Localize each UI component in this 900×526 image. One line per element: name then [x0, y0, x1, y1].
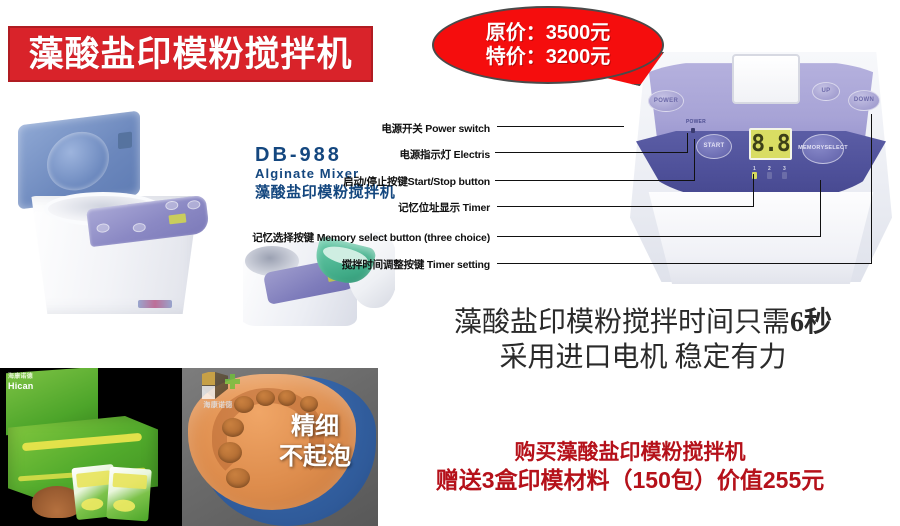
special-price: 特价：3200元 — [486, 45, 611, 69]
annotation-timer-display: 记忆位址显示 Timer — [300, 200, 490, 215]
memory-led-2 — [767, 172, 772, 179]
watermark-text: 海康诺德 — [192, 400, 244, 410]
original-price: 原价：3500元 — [486, 21, 611, 45]
green-cross-icon-bar — [225, 379, 240, 384]
dental-impression-photo: 海康诺德 精细 不起泡 — [182, 368, 378, 526]
slogan-line-1-suffix: 秒 — [804, 307, 832, 338]
machine-brand-logo — [138, 300, 172, 308]
leader-line-timer-setting — [497, 263, 871, 264]
panel-button-up — [187, 200, 201, 211]
memory-select-button[interactable]: MEMORY SELECT — [802, 134, 844, 164]
sachet-label-2 — [112, 473, 147, 489]
memory-button-line2: SELECT — [824, 146, 848, 152]
sachet-seal-1 — [81, 497, 104, 511]
panel-button-power — [96, 223, 110, 234]
leader-line-power-indicator-vert — [687, 133, 688, 153]
leader-line-timer-display — [497, 206, 753, 207]
annotation-power-switch: 电源开关 Power switch — [300, 121, 490, 136]
slogan-line-1: 藻酸盐印模粉搅拌时间只需6秒 — [388, 306, 898, 340]
panel-button-down — [165, 200, 179, 211]
machine-lid-hinge — [118, 131, 132, 149]
impression-tooth — [222, 418, 244, 437]
memory-button-line1: MEMORY — [798, 146, 824, 152]
price-bubble: 原价：3500元 特价：3200元 — [432, 6, 664, 84]
impression-tooth — [218, 442, 242, 463]
promo-line-1: 购买藻酸盐印模粉搅拌机 — [360, 440, 900, 466]
shield-quadrant-2 — [202, 386, 215, 399]
promo-block: 购买藻酸盐印模粉搅拌机 赠送3盒印模材料（150包）价值255元 — [360, 440, 900, 495]
watermark-logo: 海康诺德 — [192, 372, 242, 412]
impression-overlay-line-2: 不起泡 — [260, 442, 370, 472]
power-indicator-led — [691, 128, 695, 133]
annotation-power-indicator: 电源指示灯 Electris — [300, 147, 490, 162]
slogan-line-1-prefix: 藻酸盐印模粉搅拌时间只需 — [454, 307, 790, 338]
sachet-seal-2 — [113, 499, 136, 513]
memory-led-3 — [782, 172, 787, 179]
advertisement-poster: 藻酸盐印模粉搅拌机 原价：3500元 特价：3200元 DB-988 Algin… — [0, 0, 900, 526]
device-lid-handle-slot — [732, 54, 800, 104]
timer-display: 8.8 — [749, 128, 792, 160]
power-button[interactable]: POWER — [648, 90, 684, 112]
leader-line-memory-select-vert — [820, 180, 821, 237]
leader-line-start-stop — [495, 180, 694, 181]
impression-overlay-line-1: 精细 — [260, 412, 370, 442]
down-button[interactable]: DOWN — [848, 90, 880, 111]
leader-line-memory-select — [497, 236, 820, 237]
leader-line-timer-display-vert — [753, 174, 754, 207]
promo-line-2: 赠送3盒印模材料（150包）价值255元 — [360, 466, 900, 495]
control-panel-photo: POWER UP DOWN START MEMORY SELECT POWER … — [620, 46, 900, 291]
material-sachet-2 — [106, 467, 152, 522]
slogan-line-1-highlight: 6 — [790, 307, 804, 338]
impression-tooth — [226, 468, 250, 488]
leader-line-start-stop-vert — [694, 139, 695, 181]
material-box-brand-cn: 海康诺德 — [8, 374, 34, 381]
annotation-start-stop: 启动/停止按键Start/Stop button — [250, 174, 490, 189]
leader-line-power-switch — [497, 126, 624, 127]
title-banner-text: 藻酸盐印模粉搅拌机 — [28, 37, 352, 72]
start-stop-button[interactable]: START — [696, 134, 732, 159]
impression-tooth — [300, 396, 318, 412]
annotation-memory-select: 记忆选择按键 Memory select button (three choic… — [122, 230, 490, 245]
slogan-block: 藻酸盐印模粉搅拌时间只需6秒 采用进口电机 稳定有力 — [388, 306, 898, 376]
leader-line-timer-setting-vert — [871, 114, 872, 264]
material-box-brand-en: Hican — [8, 381, 34, 391]
alginate-material-photo: 海康诺德 Hican — [0, 368, 182, 526]
machine-lid-ring — [47, 128, 109, 194]
panel-lcd — [168, 213, 186, 224]
leader-line-power-indicator — [495, 152, 687, 153]
impression-tooth — [256, 390, 275, 406]
up-button[interactable]: UP — [812, 82, 840, 101]
annotation-timer-setting: 搅拌时间调整按键 Timer setting — [122, 257, 490, 272]
shield-quadrant-1 — [202, 372, 215, 385]
product-photo-main — [10, 110, 232, 325]
memory-position-leds: 1 2 3 — [751, 166, 793, 180]
impression-overlay-text: 精细 不起泡 — [260, 412, 370, 472]
sachet-label-1 — [76, 470, 111, 487]
impression-tooth — [278, 390, 296, 406]
power-indicator-label: POWER — [686, 119, 706, 125]
slogan-line-2: 采用进口电机 稳定有力 — [388, 340, 898, 376]
material-box-brand: 海康诺德 Hican — [8, 374, 34, 391]
title-banner: 藻酸盐印模粉搅拌机 — [8, 26, 373, 82]
